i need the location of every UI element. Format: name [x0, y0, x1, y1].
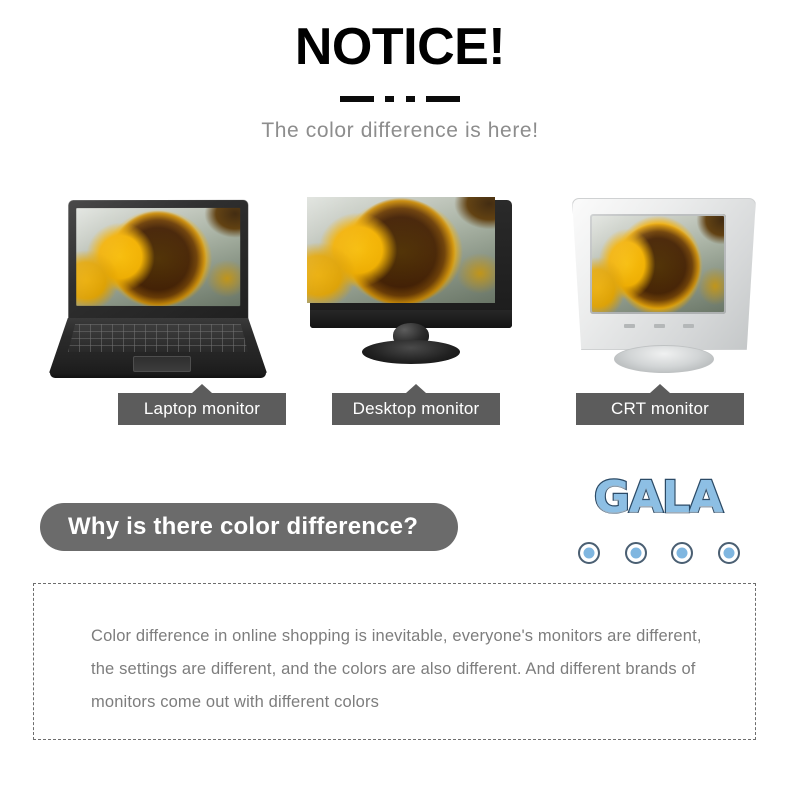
brand-logo-gala: GALA — [578, 476, 738, 520]
page-title: NOTICE! — [0, 20, 800, 75]
concentric-circle-icon — [718, 542, 740, 564]
monitor-label-text: CRT monitor — [611, 399, 709, 419]
desktop-monitor-base — [362, 340, 460, 364]
monitor-label-crt: CRT monitor — [576, 393, 744, 425]
monitor-label-laptop: Laptop monitor — [118, 393, 286, 425]
laptop-lid — [68, 200, 248, 320]
sunflower-photo-desktop — [307, 197, 495, 303]
monitor-card-desktop: Desktop monitor — [300, 190, 530, 435]
crt-button — [683, 324, 694, 328]
crt-button — [654, 324, 665, 328]
concentric-circle-icon — [625, 542, 647, 564]
sunflower-photo-crt — [590, 214, 726, 314]
monitor-label-desktop: Desktop monitor — [332, 393, 500, 425]
monitor-card-laptop: Laptop monitor — [38, 190, 288, 435]
label-pointer-arrow-icon — [406, 384, 426, 393]
monitor-card-crt: CRT monitor — [562, 190, 772, 435]
divider-dot-right — [406, 96, 415, 102]
divider-dot-left — [385, 96, 394, 102]
monitor-comparison-row: Laptop monitor Desktop monitor — [0, 190, 800, 435]
monitor-label-text: Laptop monitor — [144, 399, 260, 419]
note-body-text: Color difference in online shopping is i… — [91, 620, 716, 719]
monitor-label-text: Desktop monitor — [353, 399, 480, 419]
concentric-circle-icon — [578, 542, 600, 564]
crt-monitor-base — [614, 345, 714, 373]
label-pointer-arrow-icon — [650, 384, 670, 393]
question-pill: Why is there color difference? — [40, 503, 458, 551]
concentric-circle-icon — [671, 542, 693, 564]
laptop-front-edge — [50, 373, 266, 378]
note-box: Color difference in online shopping is i… — [33, 583, 756, 740]
question-pill-label: Why is there color difference? — [68, 513, 418, 541]
label-pointer-arrow-icon — [192, 384, 212, 393]
dash-dot-dot-dash-divider-icon — [340, 95, 460, 102]
brand-dot-row — [578, 542, 740, 564]
divider-dash-right — [426, 96, 460, 102]
laptop-touchpad — [133, 356, 191, 372]
crt-monitor-illustration-icon — [562, 190, 772, 385]
sunflower-photo-laptop — [76, 208, 240, 306]
divider-dash-left — [340, 96, 374, 102]
page-subtitle: The color difference is here! — [0, 119, 800, 143]
crt-control-buttons — [624, 324, 694, 329]
laptop-keyboard — [68, 324, 248, 352]
crt-button — [624, 324, 635, 328]
laptop-monitor-illustration-icon — [38, 190, 288, 385]
desktop-monitor-illustration-icon — [300, 190, 530, 385]
